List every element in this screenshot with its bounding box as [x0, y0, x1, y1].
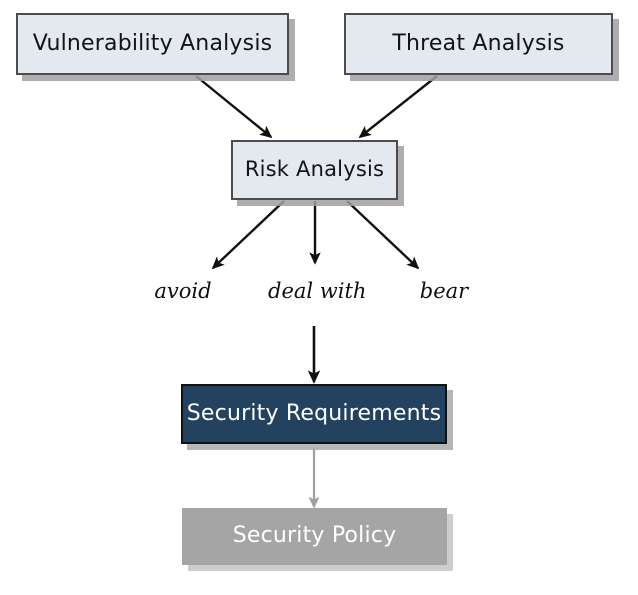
edge-risk-to-avoid — [213, 201, 284, 268]
node-label-security-requirements: Security Requirements — [187, 402, 441, 426]
edge-threat-to-risk — [360, 76, 437, 137]
diagram-canvas: Vulnerability AnalysisThreat AnalysisRis… — [0, 0, 638, 595]
node-vulnerability-analysis[interactable]: Vulnerability Analysis — [16, 13, 289, 75]
node-security-policy[interactable]: Security Policy — [182, 508, 447, 565]
node-label-vulnerability-analysis: Vulnerability Analysis — [33, 32, 273, 56]
node-label-security-policy: Security Policy — [233, 524, 397, 548]
node-label-risk-analysis: Risk Analysis — [245, 158, 384, 181]
node-security-requirements[interactable]: Security Requirements — [181, 384, 447, 444]
edge-label-avoid: avoid — [151, 279, 215, 303]
node-risk-analysis[interactable]: Risk Analysis — [231, 140, 398, 200]
edge-risk-to-bear — [347, 201, 418, 268]
node-threat-analysis[interactable]: Threat Analysis — [344, 13, 613, 75]
edge-label-bear: bear — [418, 279, 470, 303]
edge-vulnerability-to-risk — [196, 76, 271, 137]
edge-label-deal-with: deal with — [268, 279, 364, 303]
node-label-threat-analysis: Threat Analysis — [392, 32, 564, 56]
